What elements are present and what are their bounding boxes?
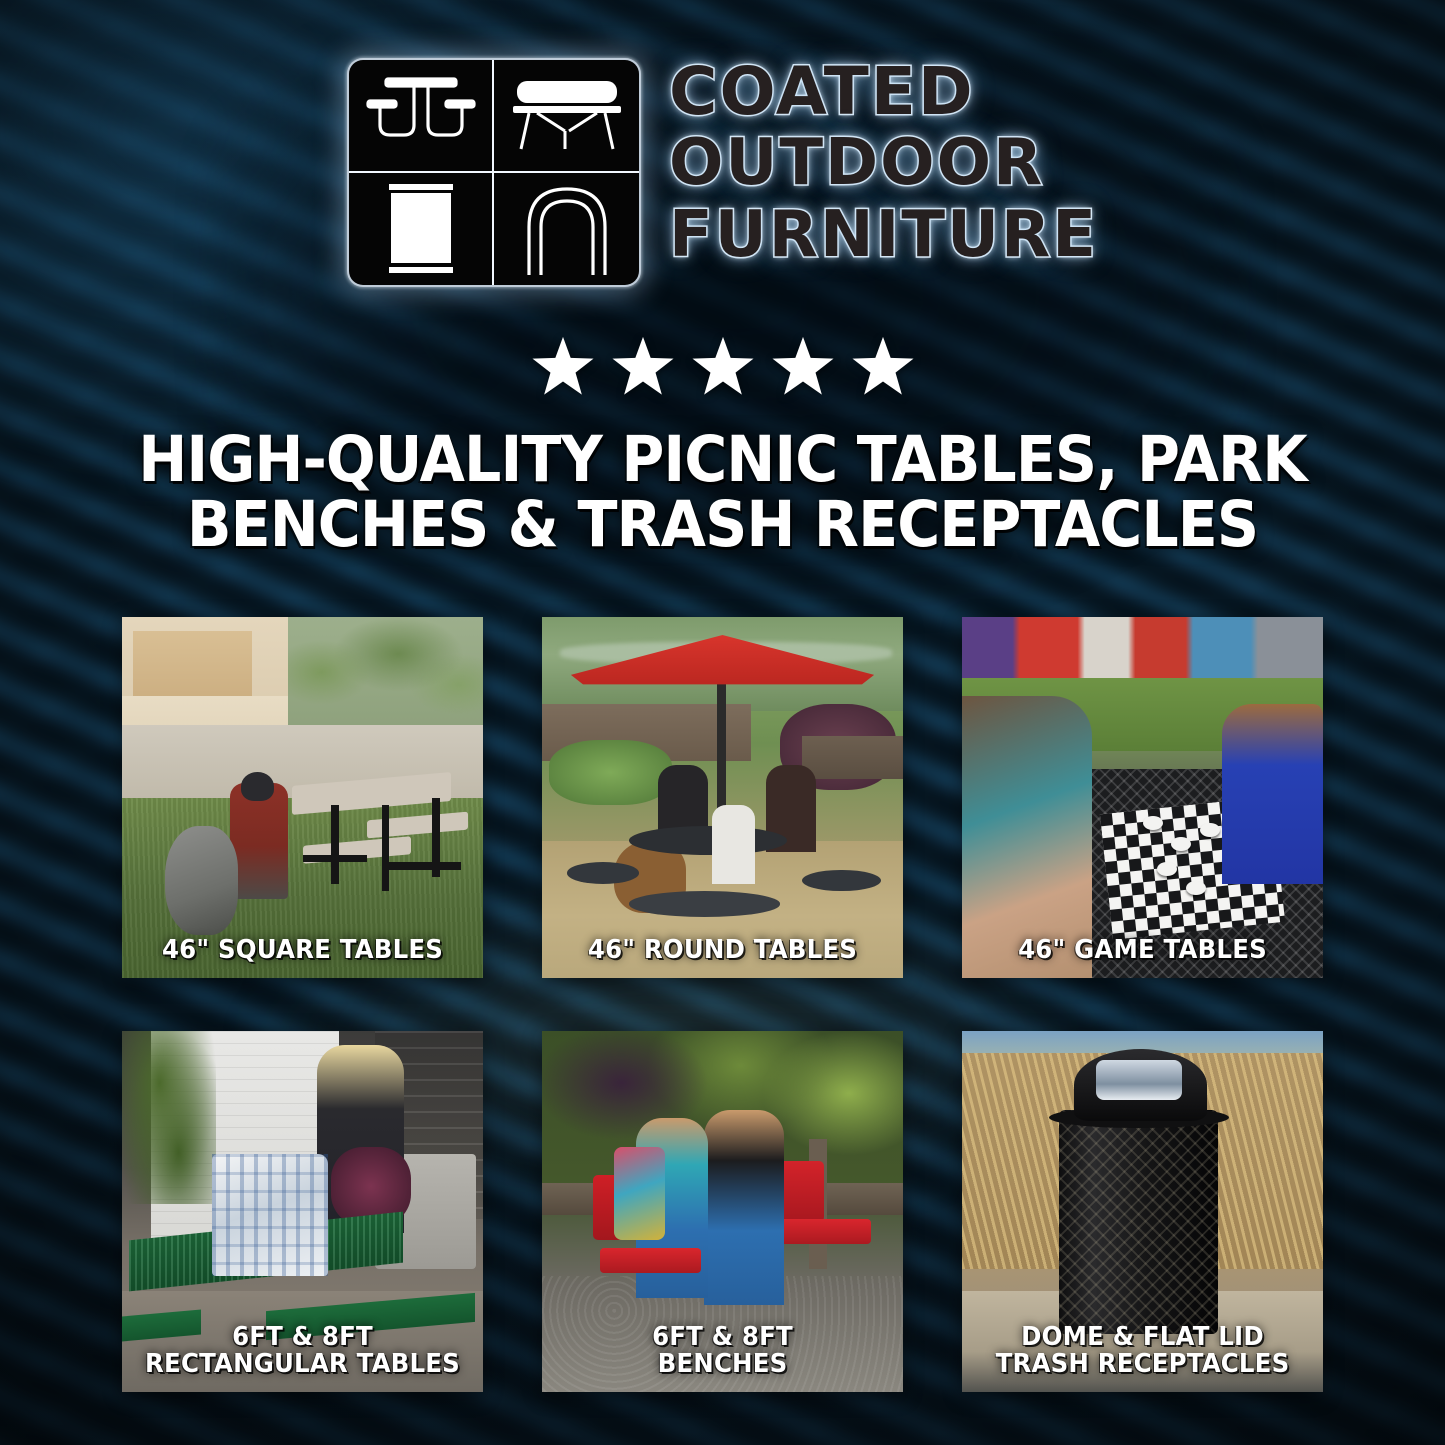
product-photo-game-tables (962, 617, 1323, 978)
star-rating (0, 336, 1445, 396)
product-caption: 6FT & 8FT BENCHES (560, 1324, 884, 1378)
logo-mark[interactable] (347, 58, 641, 287)
star-icon (772, 336, 834, 396)
trash-receptacle-icon (349, 173, 494, 286)
brand-wordmark: COATED OUTDOOR FURNITURE (669, 58, 1098, 266)
product-tile-game-tables[interactable]: 46" GAME TABLES (962, 617, 1323, 978)
product-photo-square-tables (122, 617, 483, 978)
promo-poster: COATED OUTDOOR FURNITURE HIGH-QUALITY PI… (0, 0, 1445, 1445)
star-icon (532, 336, 594, 396)
product-caption: 46" ROUND TABLES (560, 937, 884, 964)
star-icon (852, 336, 914, 396)
product-tile-square-tables[interactable]: 46" SQUARE TABLES (122, 617, 483, 978)
picnic-table-icon (349, 60, 494, 173)
brand-name-line-2: OUTDOOR (669, 133, 1098, 194)
product-caption: 6FT & 8FT RECTANGULAR TABLES (140, 1324, 464, 1378)
brand-name-line-1: COATED (669, 60, 1098, 123)
bench-icon (494, 60, 639, 173)
star-icon (692, 336, 754, 396)
product-photo-round-tables (542, 617, 903, 978)
product-tile-benches[interactable]: 6FT & 8FT BENCHES (542, 1031, 903, 1392)
page-title: HIGH-QUALITY PICNIC TABLES, PARK BENCHES… (106, 428, 1338, 558)
product-caption: DOME & FLAT LID TRASH RECEPTACLES (980, 1324, 1304, 1378)
product-caption: 46" SQUARE TABLES (140, 937, 464, 964)
product-tile-round-tables[interactable]: 46" ROUND TABLES (542, 617, 903, 978)
product-caption: 46" GAME TABLES (980, 937, 1304, 964)
brand-name-line-3: FURNITURE (669, 205, 1098, 266)
product-grid: 46" SQUARE TABLES (122, 617, 1323, 1392)
dome-lid-icon (494, 173, 639, 286)
star-icon (612, 336, 674, 396)
product-tile-trash-receptacles[interactable]: DOME & FLAT LID TRASH RECEPTACLES (962, 1031, 1323, 1392)
brand-header: COATED OUTDOOR FURNITURE (0, 58, 1445, 287)
logo-icon-grid (349, 60, 639, 285)
logo-lockup[interactable]: COATED OUTDOOR FURNITURE (347, 58, 1098, 287)
product-tile-rectangular-tables[interactable]: 6FT & 8FT RECTANGULAR TABLES (122, 1031, 483, 1392)
